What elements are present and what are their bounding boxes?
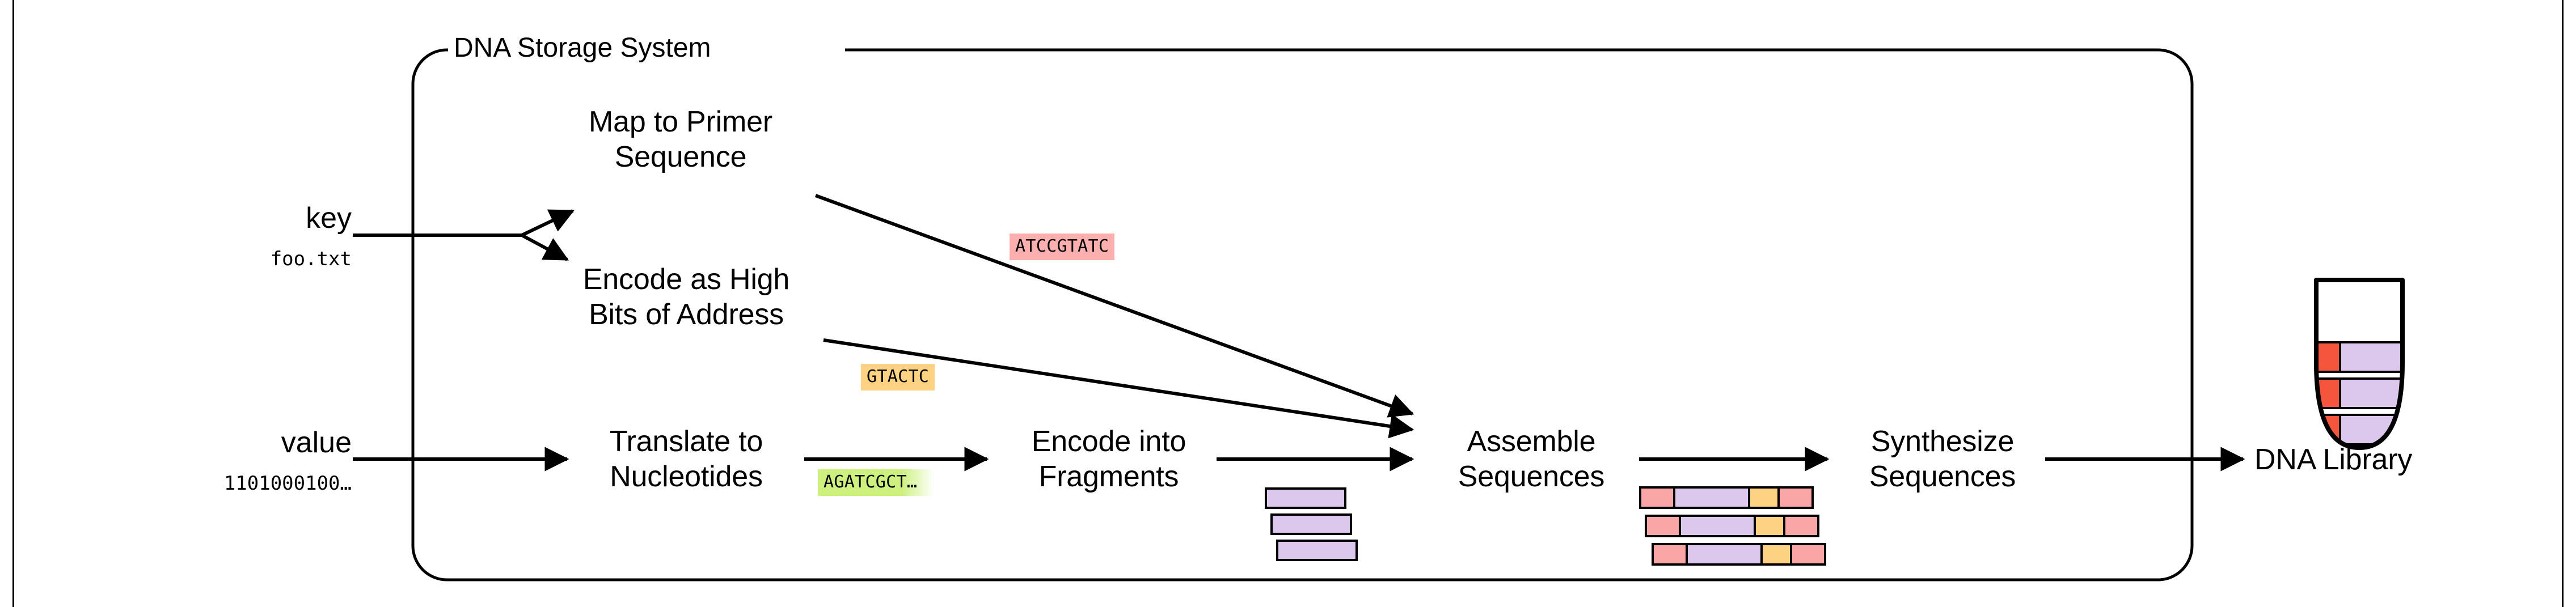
- payload-sequence-tag: AGATCGCT…: [818, 469, 934, 496]
- fragment-bar: [1266, 489, 1345, 508]
- node-fragments-line2: Fragments: [998, 460, 1219, 494]
- fragment-bar: [1272, 515, 1351, 534]
- node-encode-high-line1: Encode as High: [527, 263, 845, 296]
- input-value-sample: 1101000100…: [153, 473, 352, 495]
- diagram-vector-layer: [0, 0, 2576, 607]
- node-translate-line1: Translate to: [567, 425, 805, 459]
- input-key-label: key: [181, 202, 352, 235]
- fragment-bar-group: [1266, 489, 1357, 560]
- node-fragments-line1: Encode into: [998, 425, 1219, 459]
- assembled-sequence-row: [1653, 544, 1825, 564]
- container-title: DNA Storage System: [454, 33, 711, 64]
- node-assemble-line1: Assemble: [1424, 425, 1639, 459]
- assembled-sequence-row: [1646, 516, 1818, 536]
- fragment-bar: [1277, 541, 1357, 560]
- node-map-primer-line2: Sequence: [533, 141, 828, 174]
- node-synthesize-line1: Synthesize: [1832, 425, 2053, 459]
- node-assemble-line2: Sequences: [1424, 460, 1639, 494]
- node-synthesize-line2: Sequences: [1832, 460, 2053, 494]
- primer-sequence-tag: ATCCGTATC: [1010, 234, 1114, 260]
- node-translate-line2: Nucleotides: [567, 460, 805, 494]
- edge-key-to-map-primer: [522, 211, 573, 235]
- assembled-sequence-group: [1640, 487, 1825, 564]
- output-dna-library-label: DNA Library: [2254, 443, 2493, 477]
- assembled-sequence-row: [1640, 487, 1813, 508]
- input-value-label: value: [181, 426, 352, 460]
- diagram-canvas: DNA Storage System key foo.txt value 110…: [0, 0, 2576, 607]
- node-encode-high-line2: Bits of Address: [527, 298, 845, 332]
- node-map-primer-line1: Map to Primer: [533, 105, 828, 139]
- edge-key-to-encode-high: [522, 235, 567, 260]
- address-sequence-tag: GTACTC: [861, 364, 935, 390]
- input-key-sample: foo.txt: [181, 248, 352, 270]
